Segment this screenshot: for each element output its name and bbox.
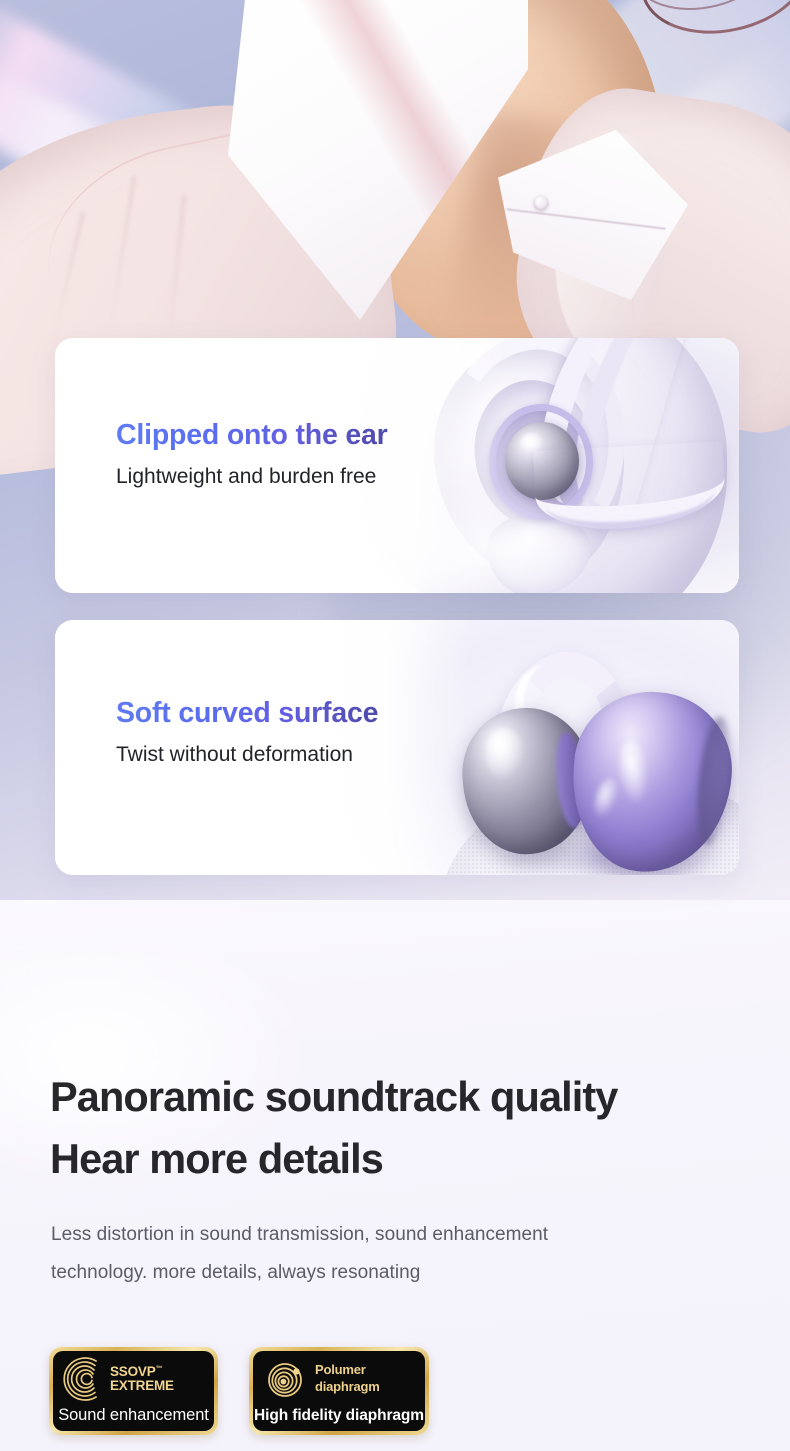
feature-card-subtitle: Lightweight and burden free (116, 465, 388, 489)
badge-mark-row: SSOVP™ EXTREME (53, 1351, 214, 1406)
ear-with-clip-on-earbud-photo (339, 338, 739, 593)
badge-caption: Sound enhancement (53, 1406, 214, 1425)
badge-high-fidelity-diaphragm: Polumer diaphragm High fidelity diaphrag… (249, 1347, 429, 1435)
feature-card-clipped-onto-the-ear: Clipped onto the ear Lightweight and bur… (55, 338, 739, 593)
badge-wordmark: Polumer diaphragm (315, 1362, 380, 1395)
feature-card-subtitle: Twist without deformation (116, 743, 378, 767)
section-headline: Panoramic soundtrack quality Hear more d… (50, 1066, 760, 1191)
feature-card-text-block: Soft curved surface Twist without deform… (116, 698, 378, 767)
section-body-text: Less distortion in sound transmission, s… (51, 1216, 691, 1291)
badge-sound-enhancement: SSOVP™ EXTREME Sound enhancement (49, 1347, 218, 1435)
badge-caption: High fidelity diaphragm (253, 1407, 425, 1425)
feature-card-soft-curved-surface: Soft curved surface Twist without deform… (55, 620, 739, 875)
earclip-pair-on-fabric-photo (319, 620, 739, 875)
badge-mark-line-1: SSOVP™ (110, 1365, 174, 1379)
section-body-line-1: Less distortion in sound transmission, s… (51, 1216, 691, 1254)
concentric-spiral-diaphragm-icon (265, 1357, 309, 1401)
technology-badges: SSOVP™ EXTREME Sound enhancement (49, 1347, 429, 1435)
section-headline-line-1: Panoramic soundtrack quality (50, 1066, 760, 1128)
badge-wordmark: SSOVP™ EXTREME (110, 1365, 174, 1393)
product-feature-page: Clipped onto the ear Lightweight and bur… (0, 0, 790, 1451)
feature-card-text-block: Clipped onto the ear Lightweight and bur… (116, 420, 388, 489)
badge-body: Polumer diaphragm High fidelity diaphrag… (253, 1351, 425, 1431)
badge-body: SSOVP™ EXTREME Sound enhancement (53, 1351, 214, 1431)
blouse-collar-button (534, 196, 548, 210)
earbud-left-highlight (485, 728, 525, 780)
badge-mark-line-2: EXTREME (110, 1379, 174, 1393)
section-body-line-2: technology. more details, always resonat… (51, 1254, 691, 1292)
badge-mark-line-2: diaphragm (315, 1379, 380, 1395)
badge-mark-row: Polumer diaphragm (253, 1351, 425, 1406)
badge-mark-line-1: Polumer (315, 1362, 380, 1378)
concentric-sound-arcs-icon (62, 1356, 108, 1402)
feature-card-title: Soft curved surface (116, 698, 378, 729)
feature-card-title: Clipped onto the ear (116, 420, 388, 451)
section-headline-line-2: Hear more details (50, 1128, 760, 1190)
trademark-icon: ™ (156, 1365, 163, 1372)
